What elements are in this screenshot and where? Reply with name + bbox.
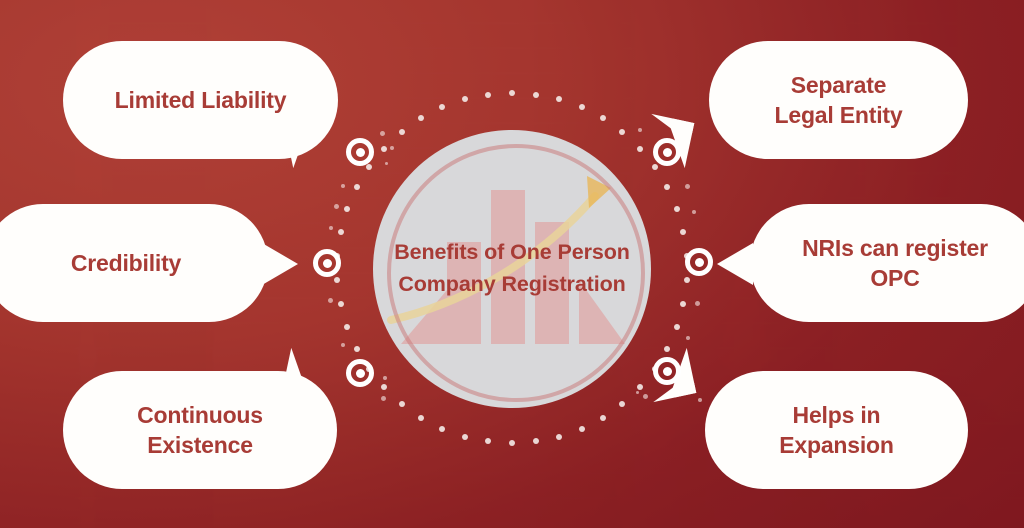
speckle-dot (328, 298, 333, 303)
connector-ring-center-dot (663, 367, 672, 376)
connector-ring-center-dot (695, 258, 704, 267)
benefit-label-separate-legal-entity: Separate Legal Entity (775, 70, 903, 131)
benefit-label-limited-liability: Limited Liability (115, 85, 287, 115)
benefit-bubble-limited-liability[interactable]: Limited Liability (63, 41, 338, 159)
speckle-dot (692, 210, 696, 214)
benefit-label-line-1: Continuous (137, 400, 263, 430)
benefit-label-line-2: Expansion (779, 430, 894, 460)
page-title-line-2: Company Registration (378, 269, 646, 301)
benefit-label-line-2: OPC (802, 263, 988, 293)
connector-ring-center-dot (356, 369, 365, 378)
connector-ring-separate-legal-entity (653, 138, 681, 166)
benefit-label-line-2: Existence (137, 430, 263, 460)
speckle-dot (329, 226, 333, 230)
benefit-label-line-1: Separate (775, 70, 903, 100)
benefit-label-continuous-existence: Continuous Existence (137, 400, 263, 461)
center-circle: Benefits of One Person Company Registrat… (373, 130, 651, 408)
connector-ring-center-dot (663, 148, 672, 157)
benefit-bubble-continuous-existence[interactable]: Continuous Existence (63, 371, 337, 489)
bubble-tail-nris-register-opc (717, 243, 753, 285)
speckle-dot (686, 336, 690, 340)
page-title: Benefits of One Person Company Registrat… (378, 237, 646, 301)
connector-ring-nris-register-opc (685, 248, 713, 276)
benefit-bubble-separate-legal-entity[interactable]: Separate Legal Entity (709, 41, 968, 159)
benefit-bubble-credibility[interactable]: Credibility (0, 204, 268, 322)
connector-ring-center-dot (323, 259, 332, 268)
connector-ring-limited-liability (346, 138, 374, 166)
speckle-dot (685, 184, 690, 189)
speckle-dot (334, 204, 339, 209)
connector-ring-continuous-existence (346, 359, 374, 387)
benefit-label-line-1: NRIs can register (802, 233, 988, 263)
benefit-label-line-1: Helps in (779, 400, 894, 430)
benefit-label-line-2: Legal Entity (775, 100, 903, 130)
benefit-label-nris-register-opc: NRIs can register OPC (802, 233, 988, 294)
speckle-dot (695, 301, 700, 306)
connector-ring-helps-in-expansion (653, 357, 681, 385)
benefit-label-helps-in-expansion: Helps in Expansion (779, 400, 894, 461)
speckle-dot (698, 398, 702, 402)
speckle-dot (341, 343, 345, 347)
benefit-bubble-nris-register-opc[interactable]: NRIs can register OPC (750, 204, 1024, 322)
connector-ring-credibility (313, 249, 341, 277)
opc-benefits-infographic: Benefits of One Person Company Registrat… (0, 0, 1024, 528)
benefit-label-credibility: Credibility (71, 248, 181, 278)
speckle-dot (341, 184, 345, 188)
benefit-bubble-helps-in-expansion[interactable]: Helps in Expansion (705, 371, 968, 489)
connector-ring-center-dot (356, 148, 365, 157)
page-title-line-1: Benefits of One Person (378, 237, 646, 269)
